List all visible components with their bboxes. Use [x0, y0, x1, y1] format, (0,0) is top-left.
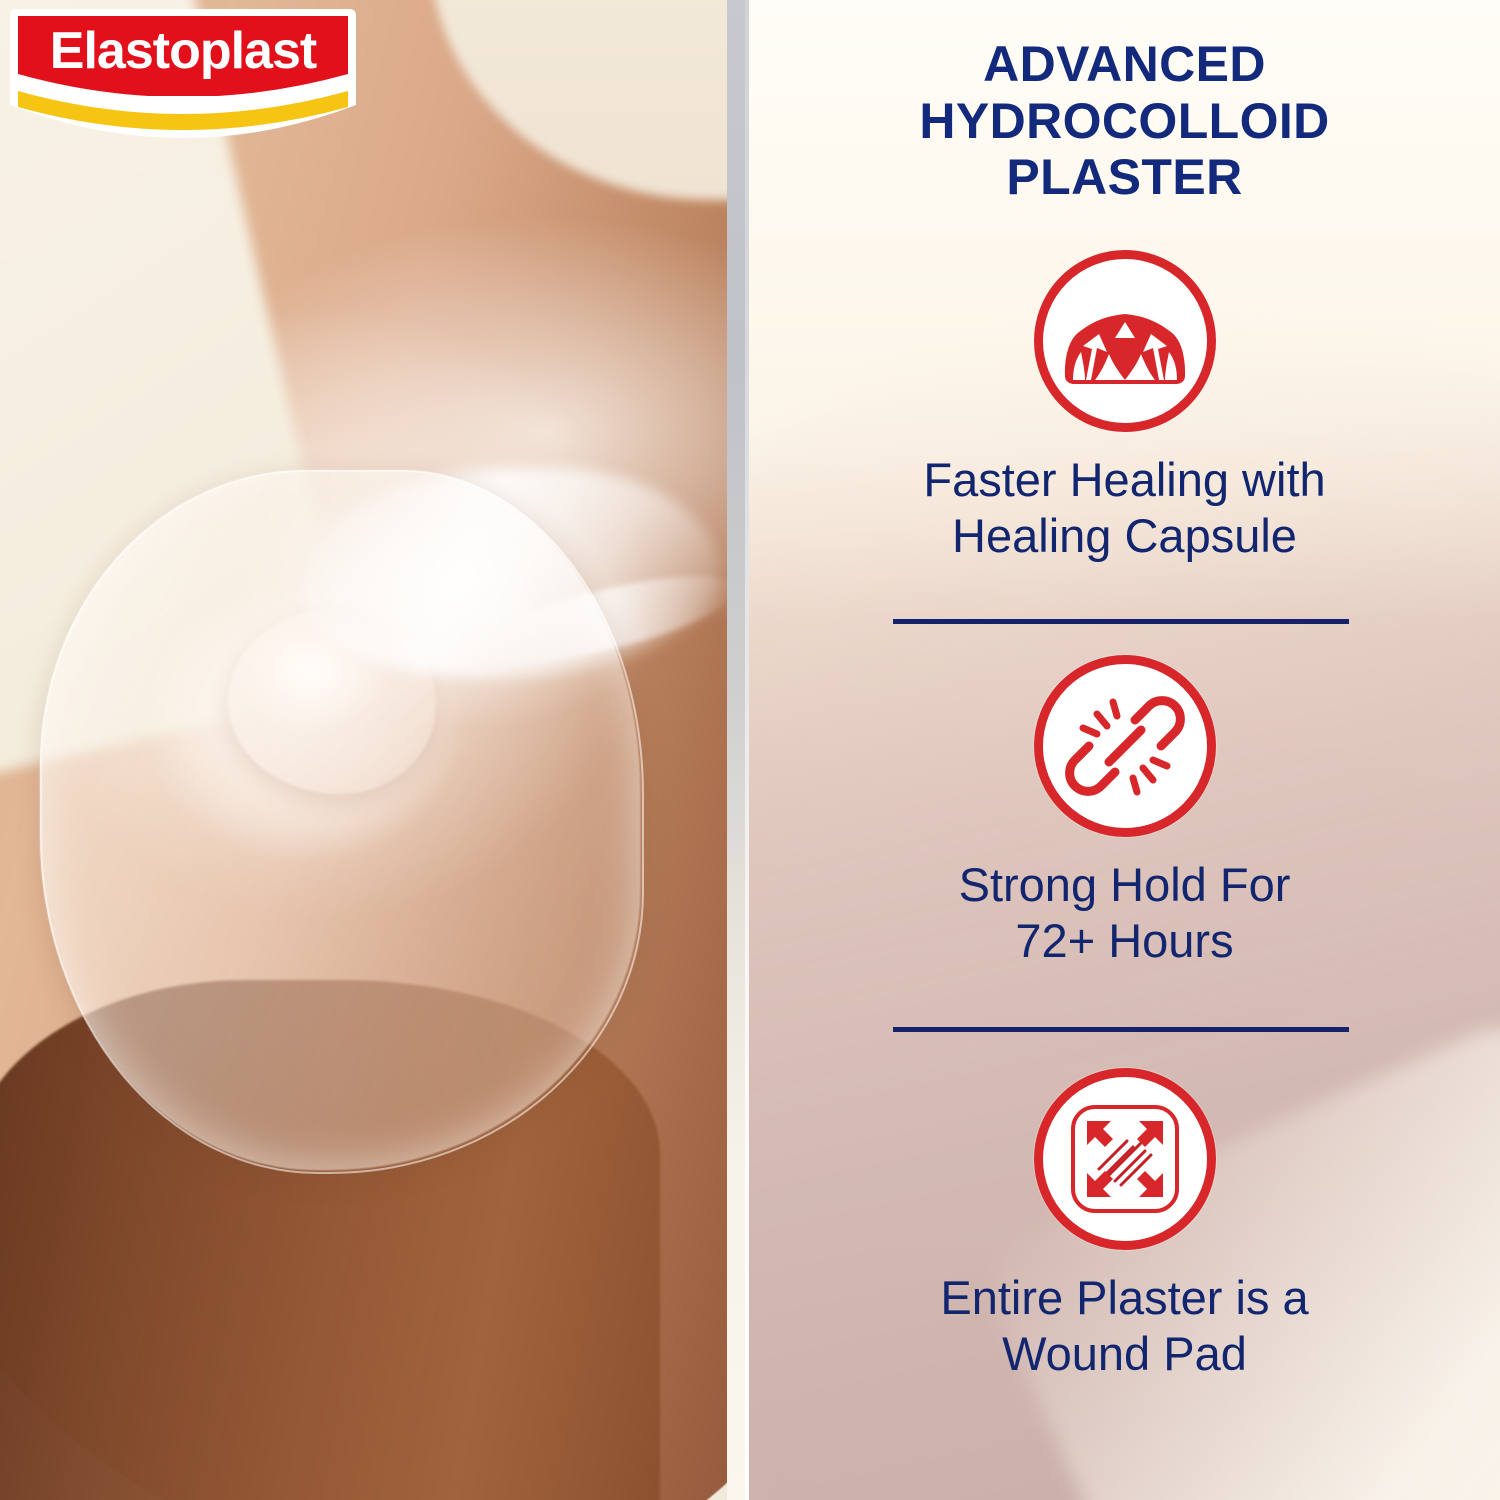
feature-label-wound-pad-line-2: Wound Pad [749, 1326, 1500, 1382]
chain-link-strong-hold-icon [1034, 655, 1216, 837]
feature-label-strong-hold-line-1: Strong Hold For [749, 857, 1500, 913]
page-title-line-1: ADVANCED [749, 36, 1500, 93]
product-photo-panel: Elastoplast [0, 0, 730, 1500]
expand-wound-pad-icon [1034, 1068, 1216, 1250]
page-title: ADVANCED HYDROCOLLOID PLASTER [749, 36, 1500, 206]
healing-wound-arrows-icon [1034, 250, 1216, 432]
feature-label-wound-pad-line-1: Entire Plaster is a [749, 1270, 1500, 1326]
feature-label-healing-line-1: Faster Healing with [749, 452, 1500, 508]
feature-label-healing-line-2: Healing Capsule [749, 508, 1500, 564]
feature-label-healing: Faster Healing with Healing Capsule [749, 452, 1500, 565]
feature-item-strong-hold: Strong Hold For 72+ Hours [749, 655, 1500, 970]
feature-label-wound-pad: Entire Plaster is a Wound Pad [749, 1270, 1500, 1383]
elastoplast-logo: Elastoplast [10, 9, 356, 151]
feature-divider-1 [893, 619, 1349, 624]
feature-divider-2 [893, 1027, 1349, 1032]
product-feature-banner: Elastoplast ADVANCED HYDROCOLLOID PLASTE… [0, 0, 1500, 1500]
feature-label-strong-hold: Strong Hold For 72+ Hours [749, 857, 1500, 970]
feature-label-strong-hold-line-2: 72+ Hours [749, 913, 1500, 969]
feature-info-panel: ADVANCED HYDROCOLLOID PLASTER [749, 0, 1500, 1500]
page-title-line-3: PLASTER [749, 149, 1500, 206]
feature-item-wound-pad: Entire Plaster is a Wound Pad [749, 1068, 1500, 1383]
page-title-line-2: HYDROCOLLOID [749, 93, 1500, 150]
feature-item-healing: Faster Healing with Healing Capsule [749, 250, 1500, 565]
plaster-edge-outline [40, 470, 644, 1174]
feature-content: ADVANCED HYDROCOLLOID PLASTER [749, 0, 1500, 1500]
logo-wordmark: Elastoplast [10, 25, 356, 77]
